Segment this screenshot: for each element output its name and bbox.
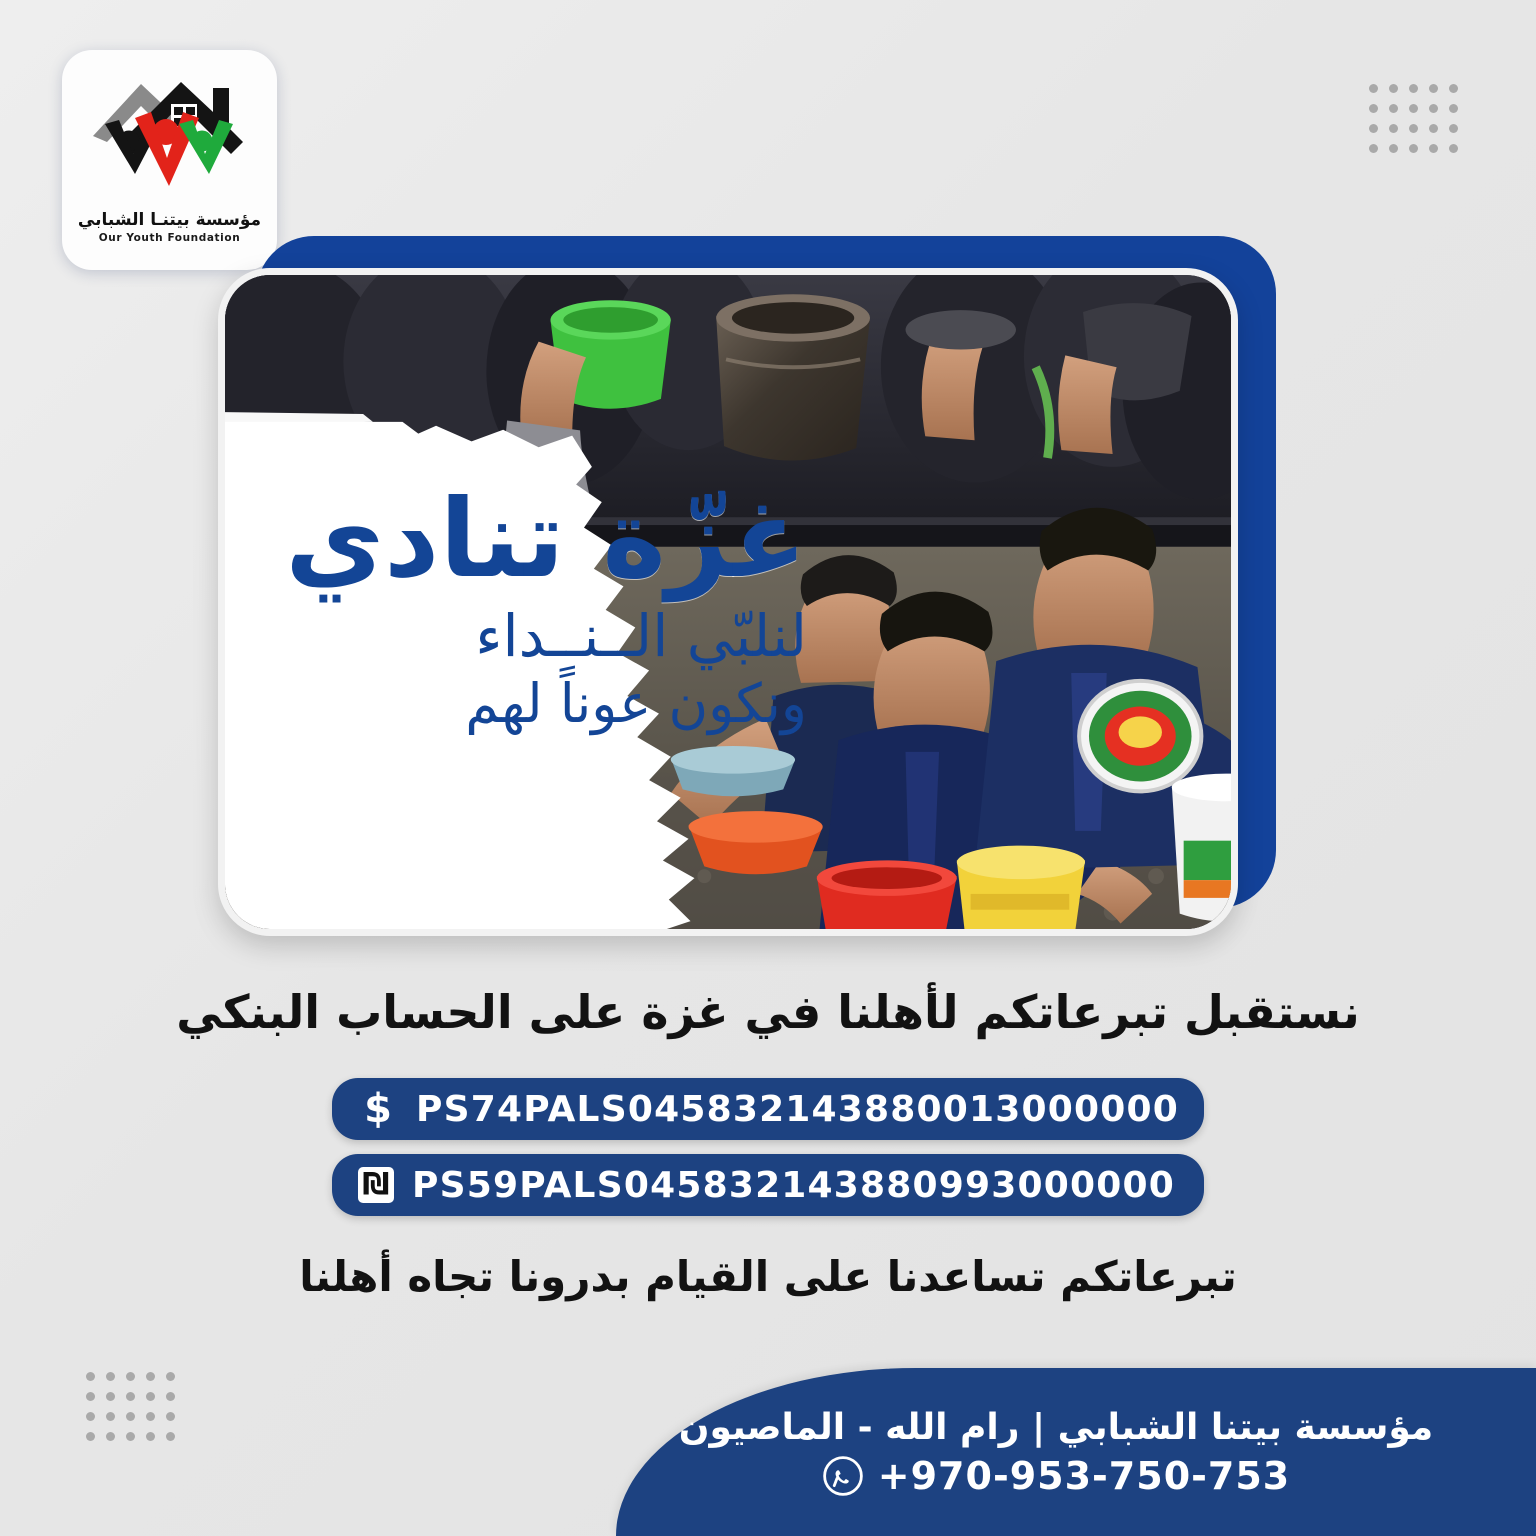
footer-contact-row[interactable]: +970-953-750-753: [822, 1454, 1290, 1498]
usd-dollar-icon: $: [358, 1087, 398, 1131]
hero-photo-card: غزّة تنادي لنلبّي الــنــداء ونكون عوناً…: [218, 268, 1238, 936]
footer-bar: مؤسسة بيتنا الشبابي | رام الله - الماصيو…: [616, 1368, 1536, 1536]
footer-organization-line: مؤسسة بيتنا الشبابي | رام الله - الماصيو…: [679, 1407, 1433, 1448]
hero-photo-assembly: غزّة تنادي لنلبّي الــنــداء ونكون عوناً…: [218, 236, 1278, 936]
foundation-logo-icon: [85, 62, 255, 214]
poster-canvas: مؤسسة بيتنـا الشبابي Our Youth Foundatio…: [0, 0, 1536, 1536]
whatsapp-icon: [822, 1455, 864, 1497]
bank-account-row-usd[interactable]: $ PS74PALS045832143880013000000: [332, 1078, 1204, 1140]
headline-text: غزّة تنادي: [265, 485, 825, 595]
iban-usd[interactable]: PS74PALS045832143880013000000: [416, 1089, 1179, 1130]
hero-title-block: غزّة تنادي لنلبّي الــنــداء ونكون عوناً…: [265, 485, 825, 735]
donation-thanks-line: تبرعاتكم تساعدنا على القيام بدرونا تجاه …: [0, 1252, 1536, 1301]
ils-shekel-icon: ₪: [358, 1167, 394, 1203]
subtitle-line-1: لنلبّي الــنــداء: [265, 605, 807, 669]
decorative-dot-grid-bottom-left: [86, 1372, 175, 1441]
subtitle-line-2: ونكون عوناً لهم: [265, 673, 807, 735]
footer-phone-number[interactable]: +970-953-750-753: [878, 1454, 1290, 1498]
bank-account-list: $ PS74PALS045832143880013000000 ₪ PS59PA…: [332, 1078, 1204, 1230]
bank-account-row-ils[interactable]: ₪ PS59PALS045832143880993000000: [332, 1154, 1204, 1216]
iban-ils[interactable]: PS59PALS045832143880993000000: [412, 1165, 1175, 1206]
donation-appeal-line: نستقبل تبرعاتكم لأهلنا في غزة على الحساب…: [0, 985, 1536, 1039]
logo-arabic-name: مؤسسة بيتنـا الشبابي: [78, 210, 261, 230]
decorative-dot-grid-top-right: [1369, 84, 1458, 153]
